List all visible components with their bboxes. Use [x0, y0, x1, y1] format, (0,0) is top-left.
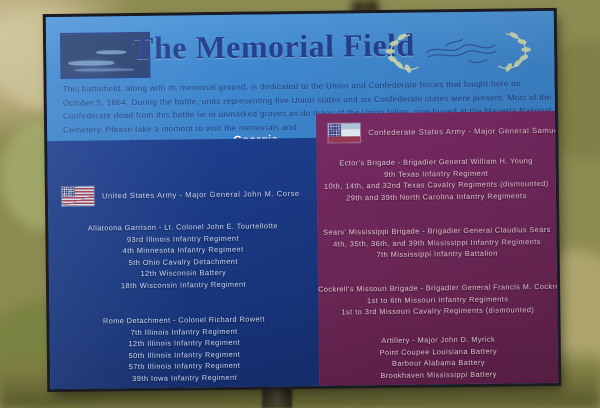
unit-line: Brookhaven Mississippi Battery	[319, 368, 558, 383]
laurel-wreath-icon	[378, 27, 539, 73]
confederate-group-cockrell: Cockrell's Missouri Brigade - Brigadier …	[318, 281, 557, 319]
unit-line: 29th and 39th North Carolina Infantry Re…	[317, 190, 556, 205]
union-forces-panel: United States Army - Major General John …	[47, 138, 319, 389]
union-panel-header: United States Army - Major General John …	[62, 184, 300, 206]
sign-post	[262, 384, 292, 408]
title-row: The Memorial Field	[60, 25, 545, 79]
confederate-group-artillery: Artillery - Major John D. Myrick Point C…	[319, 333, 559, 382]
page-title: The Memorial Field	[132, 27, 415, 67]
unit-line: 18th Wisconsin Infantry Regiment	[49, 278, 318, 293]
confederate-army-commander-label: Confederate States Army - Major General …	[368, 125, 558, 137]
unit-line: 1st to 3rd Missouri Cavalry Regiments (d…	[318, 304, 557, 319]
historical-marker-sign: The Memorial Field	[46, 11, 559, 389]
union-group-allatoona: Allatoona Garrison - Lt. Colonel John E.…	[48, 220, 318, 293]
confederate-group-sears: Sears' Mississippi Brigade - Brigadier G…	[317, 224, 556, 262]
confederate-panel-header: Confederate States Army - Major General …	[328, 120, 558, 142]
confederate-stars-and-bars-flag-icon	[328, 123, 360, 142]
confederate-forces-panel: Confederate States Army - Major General …	[316, 111, 558, 386]
us-flag-icon	[62, 187, 94, 206]
union-group-rome: Rome Detachment - Colonel Richard Rowett…	[49, 313, 319, 386]
unit-line: 39th Iowa Infantry Regiment	[50, 371, 319, 386]
union-army-commander-label: United States Army - Major General John …	[102, 189, 300, 200]
confederate-group-ector: Ector's Brigade - Brigadier General Will…	[316, 155, 556, 204]
